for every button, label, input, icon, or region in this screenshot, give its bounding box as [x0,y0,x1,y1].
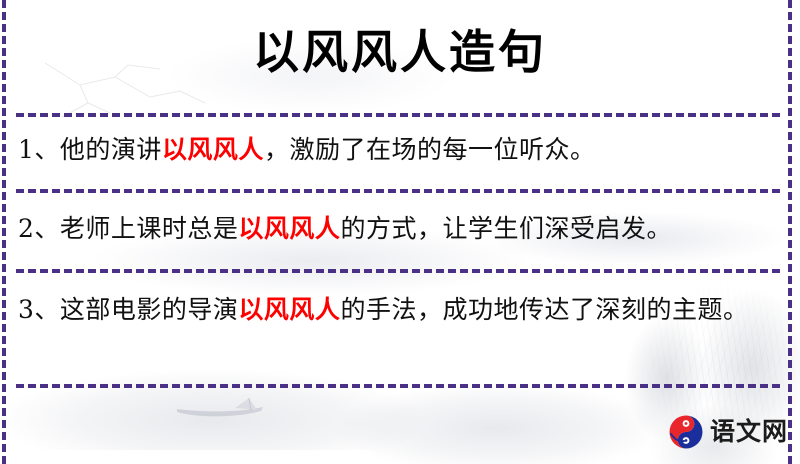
page-title: 以风风人造句 [0,22,800,82]
example-sentence-3: 3、这部电影的导演以风风人的手法，成功地传达了深刻的主题。 [18,288,778,332]
sentence-text-before-3: 这部电影的导演 [60,295,239,324]
sentence-text-before-1: 他的演讲 [60,135,162,164]
sentence-text-after-1: ，激励了在场的每一位听众。 [264,135,596,164]
worksheet-page: 以风风人造句 1、他的演讲以风风人，激励了在场的每一位听众。 2、老师上课时总是… [0,0,800,464]
sentence-text-after-3: 的手法，成功地传达了深刻的主题。 [340,295,748,324]
separator-line-1 [16,113,780,117]
example-sentence-2: 2、老师上课时总是以风风人的方式，让学生们深受启发。 [18,207,778,251]
highlighted-idiom-1: 以风风人 [162,135,264,164]
separator-line-4 [16,384,780,388]
frame-border-right [788,0,792,464]
example-sentence-1: 1、他的演讲以风风人，激励了在场的每一位听众。 [18,128,778,172]
separator-line-3 [16,269,780,273]
site-logo[interactable]: 语文网 [668,414,788,450]
frame-border-left [2,0,6,464]
highlighted-idiom-3: 以风风人 [238,295,340,324]
yinyang-fish-logo-icon [668,414,704,450]
site-logo-text: 语文网 [710,418,788,446]
separator-line-2 [16,189,780,193]
sentence-number-3: 3、 [18,295,60,324]
sentence-number-2: 2、 [18,214,60,243]
sentence-text-before-2: 老师上课时总是 [60,214,239,243]
watermark-boat-icon [175,398,285,420]
highlighted-idiom-2: 以风风人 [238,214,340,243]
sentence-number-1: 1、 [18,135,60,164]
sentence-text-after-2: 的方式，让学生们深受启发。 [340,214,672,243]
